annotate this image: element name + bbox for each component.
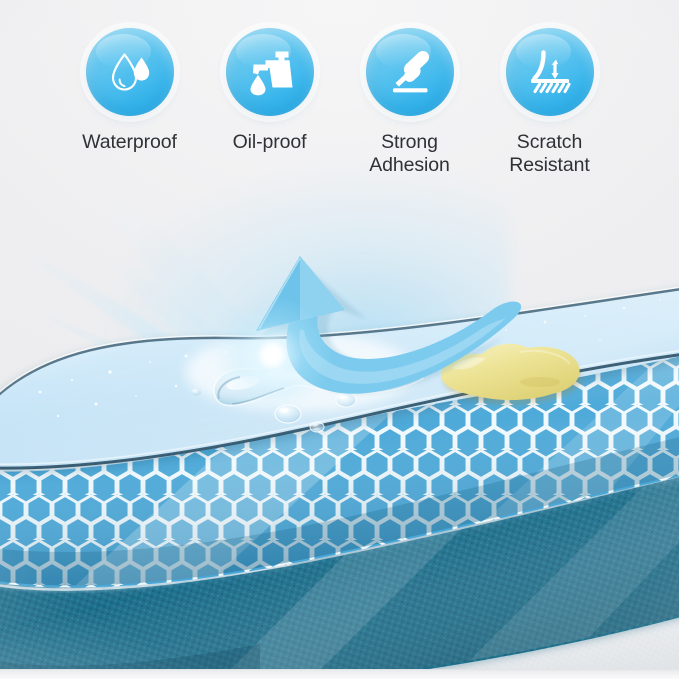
- water-droplet-small: [275, 405, 301, 423]
- feature-label: Scratch Resistant: [509, 131, 589, 177]
- feature-oil-proof[interactable]: Oil-proof: [200, 28, 340, 177]
- water-droplet-small: [336, 393, 356, 407]
- page-bottom-edge: [0, 669, 679, 679]
- feature-badge[interactable]: [506, 28, 594, 116]
- scratch-surface-icon: [524, 46, 576, 98]
- feature-strong-adhesion[interactable]: Strong Adhesion: [340, 28, 480, 177]
- feature-scratch-resistant[interactable]: Scratch Resistant: [480, 28, 620, 177]
- water-droplet-tiny: [191, 389, 201, 396]
- infographic-canvas: Waterproof Oil-proof: [0, 0, 679, 679]
- water-droplet-tiny: [310, 422, 324, 432]
- feature-badge[interactable]: [366, 28, 454, 116]
- hand-pressing-sheet-icon: [384, 46, 436, 98]
- feature-label: Waterproof: [82, 131, 177, 154]
- feature-label: Strong Adhesion: [369, 131, 450, 177]
- feature-label: Oil-proof: [233, 131, 307, 154]
- feature-badge[interactable]: [226, 28, 314, 116]
- oil-jug-pouring-icon: [244, 47, 296, 97]
- feature-waterproof[interactable]: Waterproof: [60, 28, 200, 177]
- feature-badge[interactable]: [86, 28, 174, 116]
- feature-row: Waterproof Oil-proof: [0, 28, 679, 177]
- water-droplets-icon: [105, 47, 155, 97]
